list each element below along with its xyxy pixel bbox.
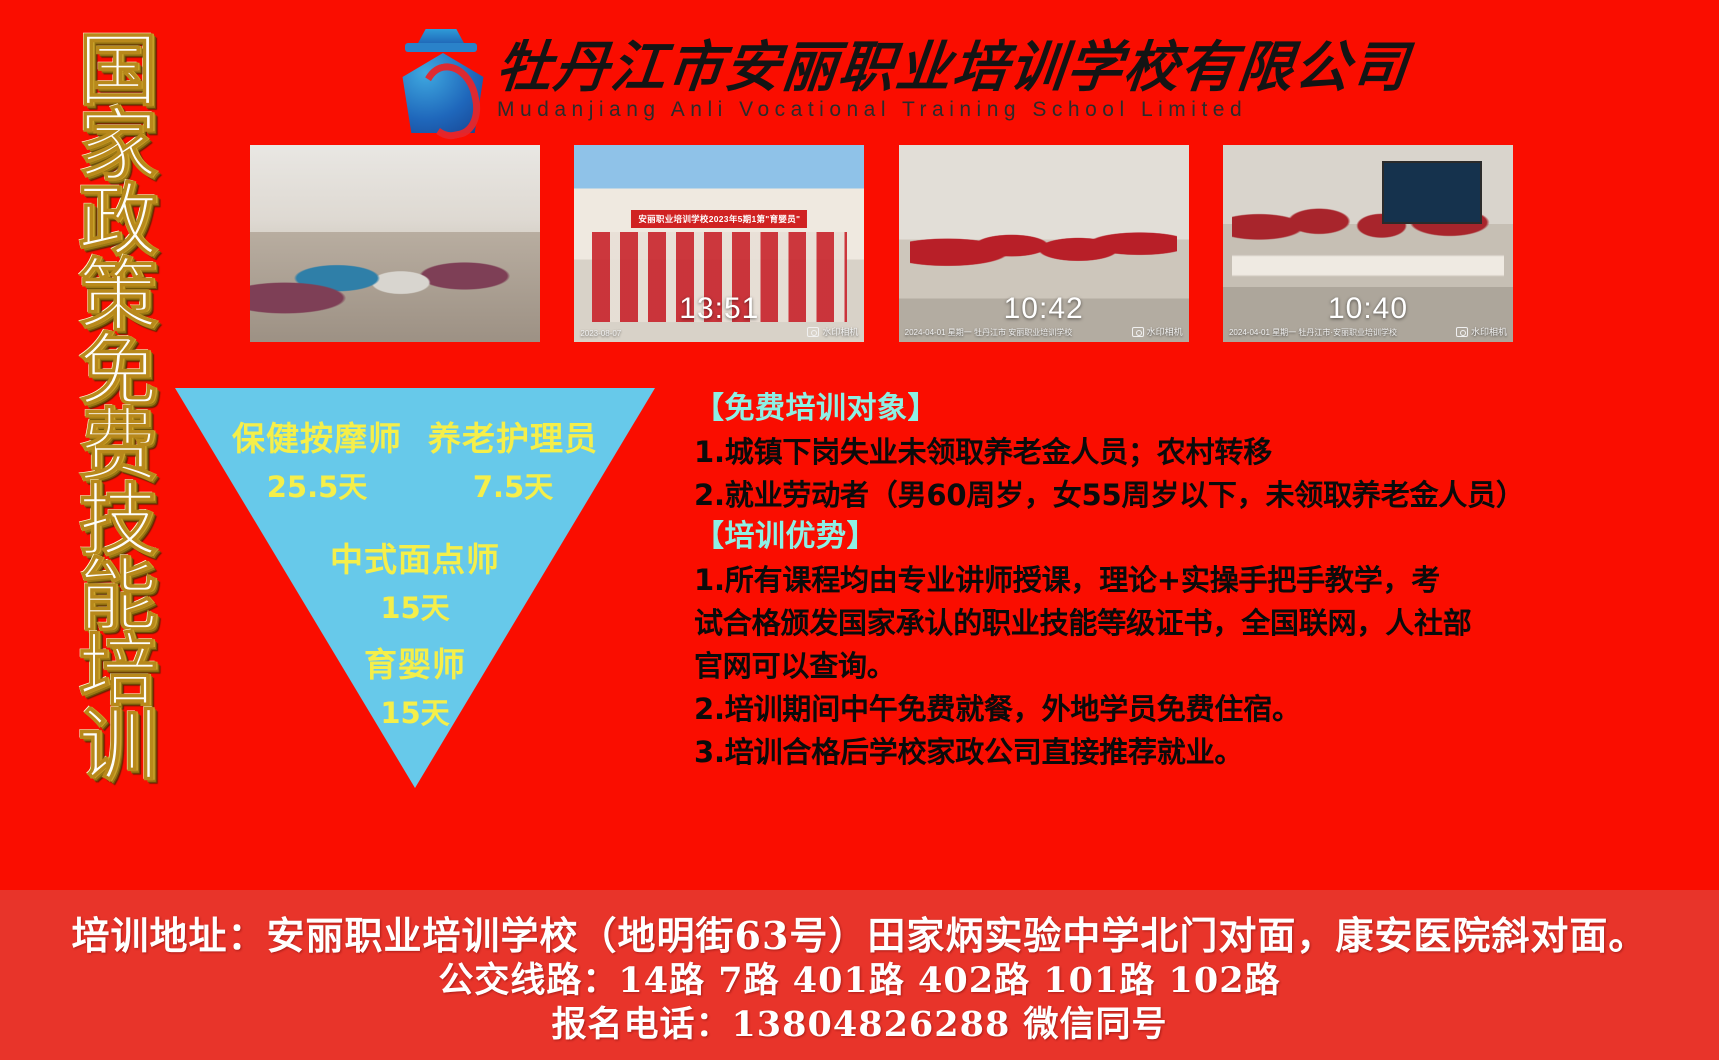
promotional-poster: 国 家 政 策 免 费 技 能 培 训 牡丹江市安丽职业培训学校有限公司 Mud… [0,0,1719,1060]
eligibility-line-2: 2.就业劳动者（男60周岁，女55周岁以下，未领取养老金人员） [694,474,1514,517]
photo-date: 2023-08-07 [580,329,621,338]
photo-group-2023: 安丽职业培训学校2023年5期1第"育婴员" 13:51 2023-08-07 … [574,145,864,342]
course-name: 育婴师 [175,638,655,686]
photo-watermark: 水印相机 [807,325,858,338]
course-name: 保健按摩师 [232,412,402,460]
photo-watermark: 水印相机 [1456,325,1507,338]
info-panel: 【免费培训对象】 1.城镇下岗失业未领取养老金人员；农村转移 2.就业劳动者（男… [694,388,1514,774]
photo-watermark: 水印相机 [1132,325,1183,338]
headline-char-7: 技 [79,484,158,559]
headline-char-1: 国 [79,34,158,109]
logo-cap-brim [405,43,477,52]
footer-phone: 报名电话：13804826288 微信同号 [0,1003,1719,1046]
photo-pastry-class [250,145,540,342]
camera-icon [1132,327,1144,337]
course-item-childcare: 育婴师 15天 [175,638,655,732]
poster-header: 牡丹江市安丽职业培训学校有限公司 Mudanjiang Anli Vocatio… [395,22,1315,138]
photo-date: 2024-04-01 星期一 牡丹江市·安丽职业培训学校 [1229,327,1397,338]
photo-time: 13:51 [679,292,759,326]
advantages-line-4: 2.培训期间中午免费就餐，外地学员免费住宿。 [694,688,1514,731]
photo-date: 2024-04-01 星期一 牡丹江市 安丽职业培训学校 [905,327,1073,338]
course-days: 25.5天 [267,464,368,506]
footer-bus-routes: 公交线路：14路 7路 401路 402路 101路 102路 [0,959,1719,1002]
camera-icon [807,327,819,337]
contact-footer: 培训地址：安丽职业培训学校（地明街63号）田家炳实验中学北门对面，康安医院斜对面… [0,890,1719,1060]
headline-char-3: 政 [79,184,158,259]
course-name: 养老护理员 [428,412,598,460]
photo-banner-text: 安丽职业培训学校2023年5期1第"育婴员" [631,210,807,228]
photo-strip: 安丽职业培训学校2023年5期1第"育婴员" 13:51 2023-08-07 … [250,145,1513,342]
watermark-label: 水印相机 [1471,325,1507,338]
camera-icon [1456,327,1468,337]
headline-char-4: 策 [79,259,158,334]
advantages-heading: 【培训优势】 [694,516,1514,559]
watermark-label: 水印相机 [822,325,858,338]
advantages-line-5: 3.培训合格后学校家政公司直接推荐就业。 [694,731,1514,774]
school-name-cn: 牡丹江市安丽职业培训学校有限公司 [494,38,1412,96]
school-name-en: Mudanjiang Anli Vocational Training Scho… [497,98,1409,122]
photo-time: 10:40 [1328,292,1408,326]
course-list: 保健按摩师 25.5天 养老护理员 7.5天 中式面点师 15天 育婴师 15天 [175,388,655,788]
course-days: 15天 [175,690,655,732]
eligibility-line-1: 1.城镇下岗失业未领取养老金人员；农村转移 [694,431,1514,474]
course-triangle: 保健按摩师 25.5天 养老护理员 7.5天 中式面点师 15天 育婴师 15天 [175,388,655,788]
footer-address: 培训地址：安丽职业培训学校（地明街63号）田家炳实验中学北门对面，康安医院斜对面… [0,912,1719,959]
header-title-block: 牡丹江市安丽职业培训学校有限公司 Mudanjiang Anli Vocatio… [497,38,1409,122]
vertical-headline: 国 家 政 策 免 费 技 能 培 训 [62,34,174,774]
eligibility-heading: 【免费培训对象】 [694,388,1514,431]
course-row-1: 保健按摩师 25.5天 养老护理员 7.5天 [175,412,655,506]
headline-char-8: 能 [79,559,158,634]
advantages-line-2: 试合格颁发国家承认的职业技能等级证书，全国联网，人社部 [694,602,1514,645]
course-days: 15天 [175,585,655,627]
course-days: 7.5天 [473,464,553,506]
advantages-line-1: 1.所有课程均由专业讲师授课，理论+实操手把手教学，考 [694,559,1514,602]
photo-classroom: 10:40 2024-04-01 星期一 牡丹江市·安丽职业培训学校 水印相机 [1223,145,1513,342]
watermark-label: 水印相机 [1147,325,1183,338]
headline-char-2: 家 [79,109,158,184]
course-item-massage: 保健按摩师 25.5天 [232,412,402,506]
photo-nursing-practice: 10:42 2024-04-01 星期一 牡丹江市 安丽职业培训学校 水印相机 [899,145,1189,342]
advantages-line-3: 官网可以查询。 [694,645,1514,688]
course-name: 中式面点师 [175,533,655,581]
headline-char-5: 免 [79,334,158,409]
headline-char-10: 训 [79,709,158,784]
headline-char-9: 培 [79,634,158,709]
photo-time: 10:42 [1004,292,1084,326]
course-item-pastry: 中式面点师 15天 [175,533,655,627]
graduation-cap-shield-logo-icon [395,27,491,133]
headline-char-6: 费 [79,409,158,484]
course-item-eldercare: 养老护理员 7.5天 [428,412,598,506]
